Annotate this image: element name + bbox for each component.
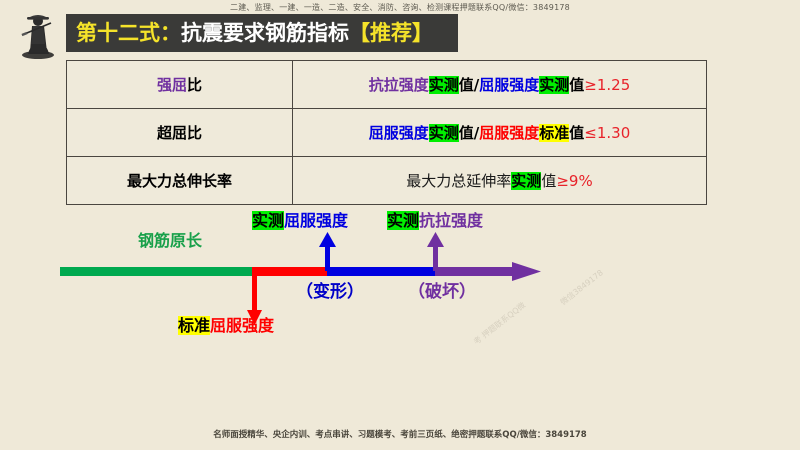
label-measured-tensile-strength: 实测抗拉强度 [387,213,483,229]
table-cell-label: 最大力总伸长率 [67,157,293,205]
value-highlight-1: 实测 [511,172,541,190]
slide-title-suffix: 【推荐】 [349,21,433,45]
label-standard-yield-text: 屈服强度 [210,316,274,335]
value-seg-2: 值/ [459,124,479,142]
value-highlight-1: 实测 [429,76,459,94]
table-row: 最大力总伸长率 最大力总延伸率实测值≥9% [67,157,707,205]
value-seg-1: 屈服强度 [369,124,429,142]
row-label-part-a: 超屈比 [157,124,202,142]
value-threshold: ≤1.30 [584,124,630,142]
label-original-length: 钢筋原长 [138,233,202,249]
value-seg-3: 屈服强度 [479,124,539,142]
value-seg-1: 抗拉强度 [369,76,429,94]
value-highlight-2: 实测 [539,76,569,94]
label-measured-yield-highlight: 实测 [252,211,284,230]
label-measured-yield-text: 屈服强度 [284,211,348,230]
row-label-part-a: 最大力总伸长率 [127,172,232,190]
value-seg-4: 值 [569,124,584,142]
table-cell-value: 最大力总延伸率实测值≥9% [293,157,707,205]
value-threshold: ≥1.25 [584,76,630,94]
label-failure-phase: （破坏） [408,284,476,301]
row-label-part-b: 比 [187,76,202,94]
value-seg-4: 值 [569,76,584,94]
segment-standard-yield [252,267,328,276]
slide-title-main: 抗震要求钢筋指标 [181,21,349,45]
value-highlight-1: 实测 [429,124,459,142]
promo-banner-top: 二建、监理、一建、一造、二造、安全、消防、咨询、检测课程押题联系QQ/微信：38… [0,2,800,13]
promo-banner-bottom: 名师面授精华、央企内训、考点串讲、习题模考、考前三页纸、绝密押题联系QQ/微信：… [0,428,800,440]
slide-title: 第十二式：抗震要求钢筋指标【推荐】 [76,23,433,44]
value-seg-1: 最大力总延伸率 [406,172,511,190]
slide-title-prefix: 第十二式： [76,21,181,45]
seismic-rebar-index-table: 强屈比 抗拉强度实测值/屈服强度实测值≥1.25 超屈比 屈服强度实测值/屈服强… [66,60,707,205]
label-measured-yield-strength: 实测屈服强度 [252,213,348,229]
samurai-mascot-icon [10,4,66,60]
table-cell-label: 强屈比 [67,61,293,109]
arrow-measured-tensile-head [427,232,444,247]
segment-deformation [327,267,436,276]
arrow-measured-tensile-shaft [433,243,438,271]
table-row: 超屈比 屈服强度实测值/屈服强度标准值≤1.30 [67,109,707,157]
arrow-measured-yield-head [319,232,336,247]
label-standard-yield-highlight: 标准 [178,316,210,335]
table-cell-value: 屈服强度实测值/屈服强度标准值≤1.30 [293,109,707,157]
label-deformation-phase: （变形） [296,284,364,301]
value-threshold: ≥9% [556,172,592,190]
value-highlight-2: 标准 [539,124,569,142]
table-row: 强屈比 抗拉强度实测值/屈服强度实测值≥1.25 [67,61,707,109]
value-seg-2: 值/ [459,76,479,94]
label-standard-yield-strength: 标准屈服强度 [178,318,274,334]
table-cell-value: 抗拉强度实测值/屈服强度实测值≥1.25 [293,61,707,109]
timeline-arrowhead-right [512,262,541,281]
row-label-part-a: 强屈 [157,76,187,94]
value-seg-3: 屈服强度 [479,76,539,94]
segment-failure [435,267,520,276]
value-seg-2: 值 [541,172,556,190]
arrow-measured-yield-shaft [325,243,330,271]
label-measured-tensile-text: 抗拉强度 [419,211,483,230]
arrow-standard-yield-shaft [252,271,257,315]
label-measured-tensile-highlight: 实测 [387,211,419,230]
segment-original-length [60,267,253,276]
rebar-stress-timeline-diagram: 钢筋原长 实测屈服强度 实测抗拉强度 （变形） （破坏） 标准屈服强度 [0,205,800,350]
table-cell-label: 超屈比 [67,109,293,157]
slide-title-bar: 第十二式：抗震要求钢筋指标【推荐】 [66,14,458,52]
